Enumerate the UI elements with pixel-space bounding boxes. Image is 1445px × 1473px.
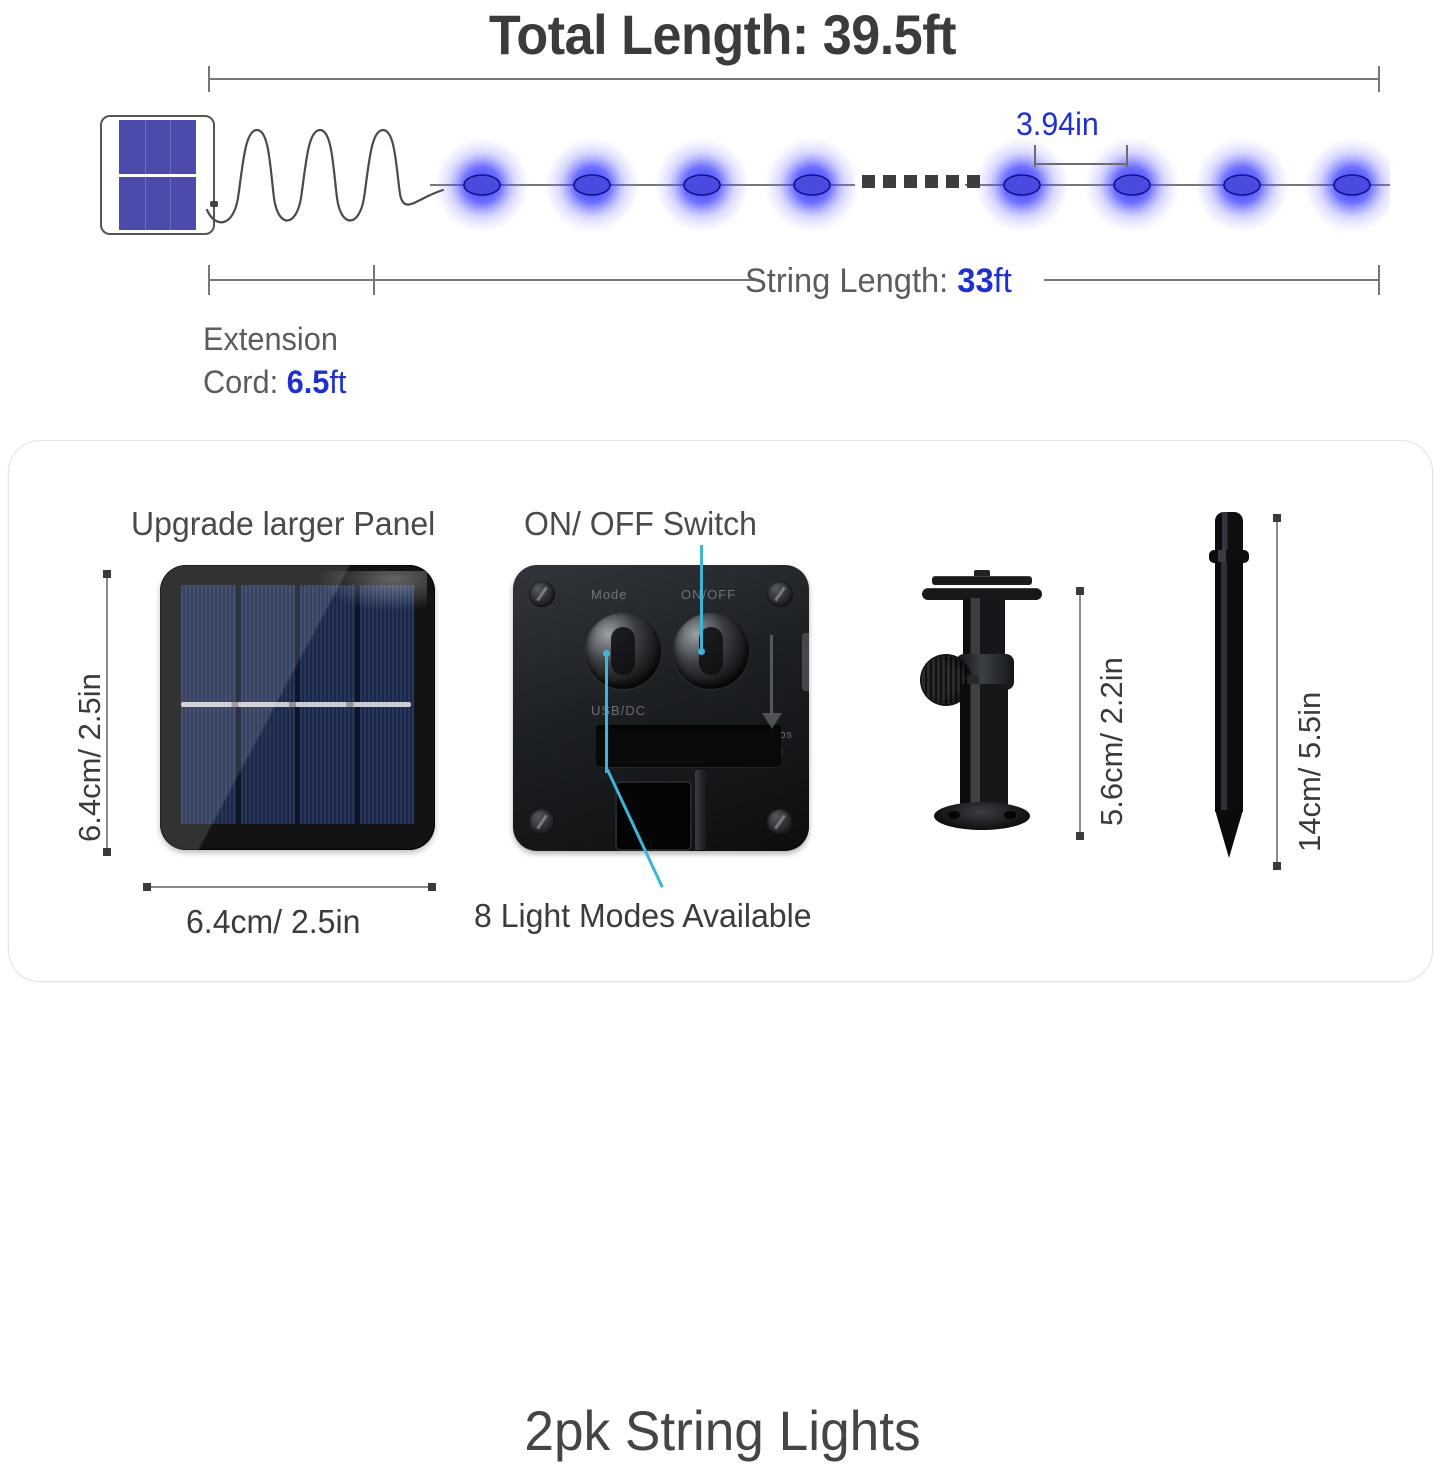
dim-dot-bottom bbox=[1273, 862, 1281, 870]
lower-bar-left bbox=[208, 279, 754, 281]
screw-bottom-right bbox=[767, 809, 793, 835]
dimension-bar bbox=[208, 78, 1380, 80]
led-spacing-label: 3.94in bbox=[1016, 106, 1099, 143]
dim-dot-bottom bbox=[1076, 832, 1084, 840]
callout-dot-switch bbox=[698, 648, 705, 655]
string-continuation-dots bbox=[862, 175, 972, 189]
caption-light-modes: 8 Light Modes Available bbox=[474, 897, 812, 935]
stake-shaft bbox=[1215, 562, 1243, 812]
dim-dot-right bbox=[428, 883, 436, 891]
panel-busbar bbox=[181, 702, 411, 707]
side-tab bbox=[802, 633, 809, 691]
slide-rail bbox=[695, 770, 706, 850]
stake-head bbox=[1215, 512, 1243, 554]
extension-line2: Cord: 6.5ft bbox=[203, 361, 346, 404]
total-length-title: Total Length: 39.5ft bbox=[51, 2, 1395, 67]
caption-on-off-switch: ON/ OFF Switch bbox=[524, 505, 757, 543]
string-length-unit: ft bbox=[994, 262, 1012, 300]
bracket-base bbox=[934, 802, 1030, 830]
extension-prefix: Cord: bbox=[203, 364, 287, 400]
bracket-neck bbox=[963, 598, 1005, 660]
label-mode: Mode bbox=[591, 587, 628, 602]
bracket-post bbox=[960, 684, 1008, 809]
callout-line-modes-vertical bbox=[605, 653, 608, 773]
solar-busbar bbox=[119, 174, 213, 177]
extension-unit: ft bbox=[329, 364, 346, 400]
extension-line1: Extension bbox=[203, 318, 346, 361]
label-on-off: ON/OFF bbox=[681, 587, 736, 602]
solar-panel-photo bbox=[160, 565, 435, 850]
bracket-height-label: 5.6cm/ 2.2in bbox=[1094, 657, 1130, 826]
screw-top-right bbox=[767, 581, 793, 607]
extension-value: 6.5 bbox=[287, 364, 330, 400]
panel-highlight bbox=[317, 571, 427, 611]
screw-top-left bbox=[529, 581, 555, 607]
spacing-bar bbox=[1034, 163, 1128, 165]
mode-button[interactable] bbox=[585, 613, 661, 689]
dim-dot-bottom bbox=[103, 848, 111, 856]
callout-dot-modes bbox=[603, 650, 610, 657]
dim-dot-top bbox=[103, 570, 111, 578]
panel-width-label: 6.4cm/ 2.5in bbox=[186, 903, 360, 941]
total-length-dimension-line bbox=[208, 66, 1380, 92]
dim-dot-top bbox=[1273, 514, 1281, 522]
extension-cord-label: Extension Cord: 6.5ft bbox=[203, 318, 346, 404]
pack-title: 2pk String Lights bbox=[36, 1398, 1409, 1463]
led-spacing-dimension-line bbox=[1034, 145, 1128, 167]
bracket-plate-top bbox=[932, 576, 1032, 585]
dim-dot-top bbox=[1076, 587, 1084, 595]
caption-upgrade-panel: Upgrade larger Panel bbox=[131, 505, 435, 543]
mounting-bracket-icon bbox=[916, 576, 1046, 848]
base-screw-hole bbox=[1004, 811, 1016, 819]
on-off-button[interactable] bbox=[673, 613, 749, 689]
string-length-label: String Length: 33ft bbox=[745, 262, 1012, 301]
stake-tip bbox=[1215, 810, 1243, 858]
coiled-cord-icon bbox=[205, 120, 445, 230]
screw-bottom-left bbox=[529, 809, 555, 835]
panel-width-dimension-line bbox=[145, 886, 434, 888]
down-arrow-icon bbox=[770, 635, 773, 715]
lower-bar-right bbox=[1044, 279, 1380, 281]
base-screw-hole bbox=[948, 811, 960, 819]
battery-slot bbox=[596, 725, 781, 767]
stake-height-dimension-line bbox=[1276, 516, 1278, 868]
string-length-prefix: String Length: bbox=[745, 262, 957, 300]
product-infographic: Total Length: 39.5ft bbox=[0, 0, 1445, 1473]
callout-line-switch bbox=[700, 545, 703, 653]
spacing-tick-right bbox=[1126, 145, 1128, 167]
solar-panel-icon bbox=[100, 115, 215, 235]
bracket-height-dimension-line bbox=[1079, 589, 1081, 838]
label-usb: USB/DC bbox=[591, 703, 646, 718]
panel-height-label: 6.4cm/ 2.5in bbox=[72, 673, 108, 842]
dimension-tick-right bbox=[1378, 66, 1380, 92]
string-length-value: 33 bbox=[957, 262, 993, 300]
ground-stake-icon bbox=[1207, 512, 1251, 860]
back-panel-photo: Mode ON/OFF USB/DC Thumb tabs to pull bbox=[513, 565, 809, 851]
length-diagram-section: Total Length: 39.5ft bbox=[0, 0, 1445, 420]
stake-height-label: 14cm/ 5.5in bbox=[1292, 692, 1328, 852]
dim-dot-left bbox=[143, 883, 151, 891]
